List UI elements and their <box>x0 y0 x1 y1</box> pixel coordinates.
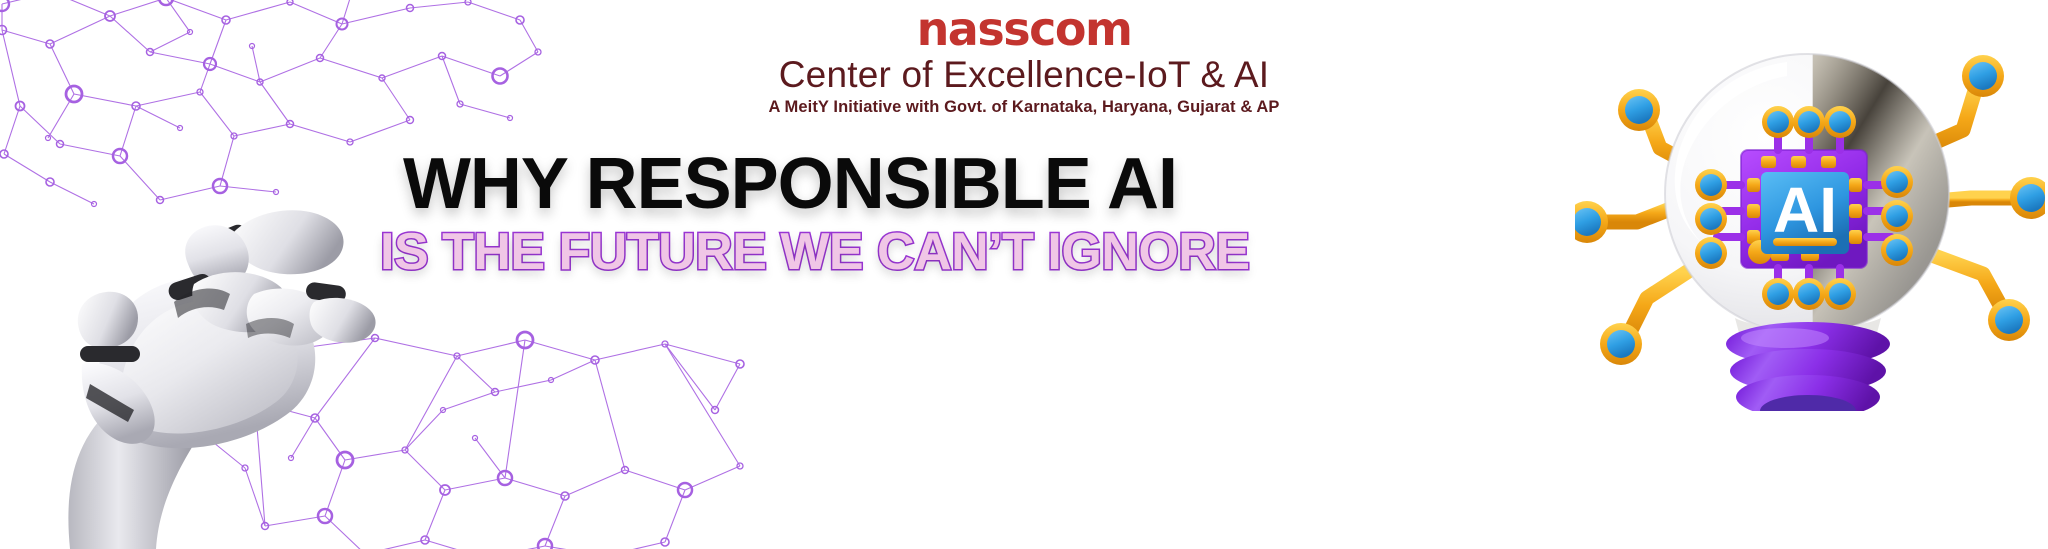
node <box>1793 278 1825 310</box>
node <box>1793 106 1825 138</box>
node <box>2010 177 2045 219</box>
node <box>1824 106 1856 138</box>
node <box>1881 200 1913 232</box>
node <box>1962 55 2004 97</box>
banner-root: nasscom Center of Excellence-IoT & AI A … <box>0 0 2048 549</box>
robotic-hand-image <box>18 88 378 549</box>
node <box>1695 237 1727 269</box>
headline-block: WHY RESPONSIBLE AI IS THE FUTURE WE CAN’… <box>380 148 1200 278</box>
node <box>1762 278 1794 310</box>
node <box>1600 323 1642 365</box>
chip-ai-label: AI <box>1773 174 1837 246</box>
node <box>1695 169 1727 201</box>
node <box>1881 166 1913 198</box>
node <box>1575 201 1608 243</box>
node <box>1762 106 1794 138</box>
node <box>1881 234 1913 266</box>
node <box>1824 278 1856 310</box>
node <box>1618 89 1660 131</box>
node <box>1695 203 1727 235</box>
bulb-base <box>1726 322 1890 411</box>
node <box>1988 299 2030 341</box>
headline-primary: WHY RESPONSIBLE AI <box>380 148 1200 220</box>
headline-secondary: IS THE FUTURE WE CAN’T IGNORE <box>380 226 1200 278</box>
ai-lightbulb-illustration: AI <box>1575 26 2045 411</box>
